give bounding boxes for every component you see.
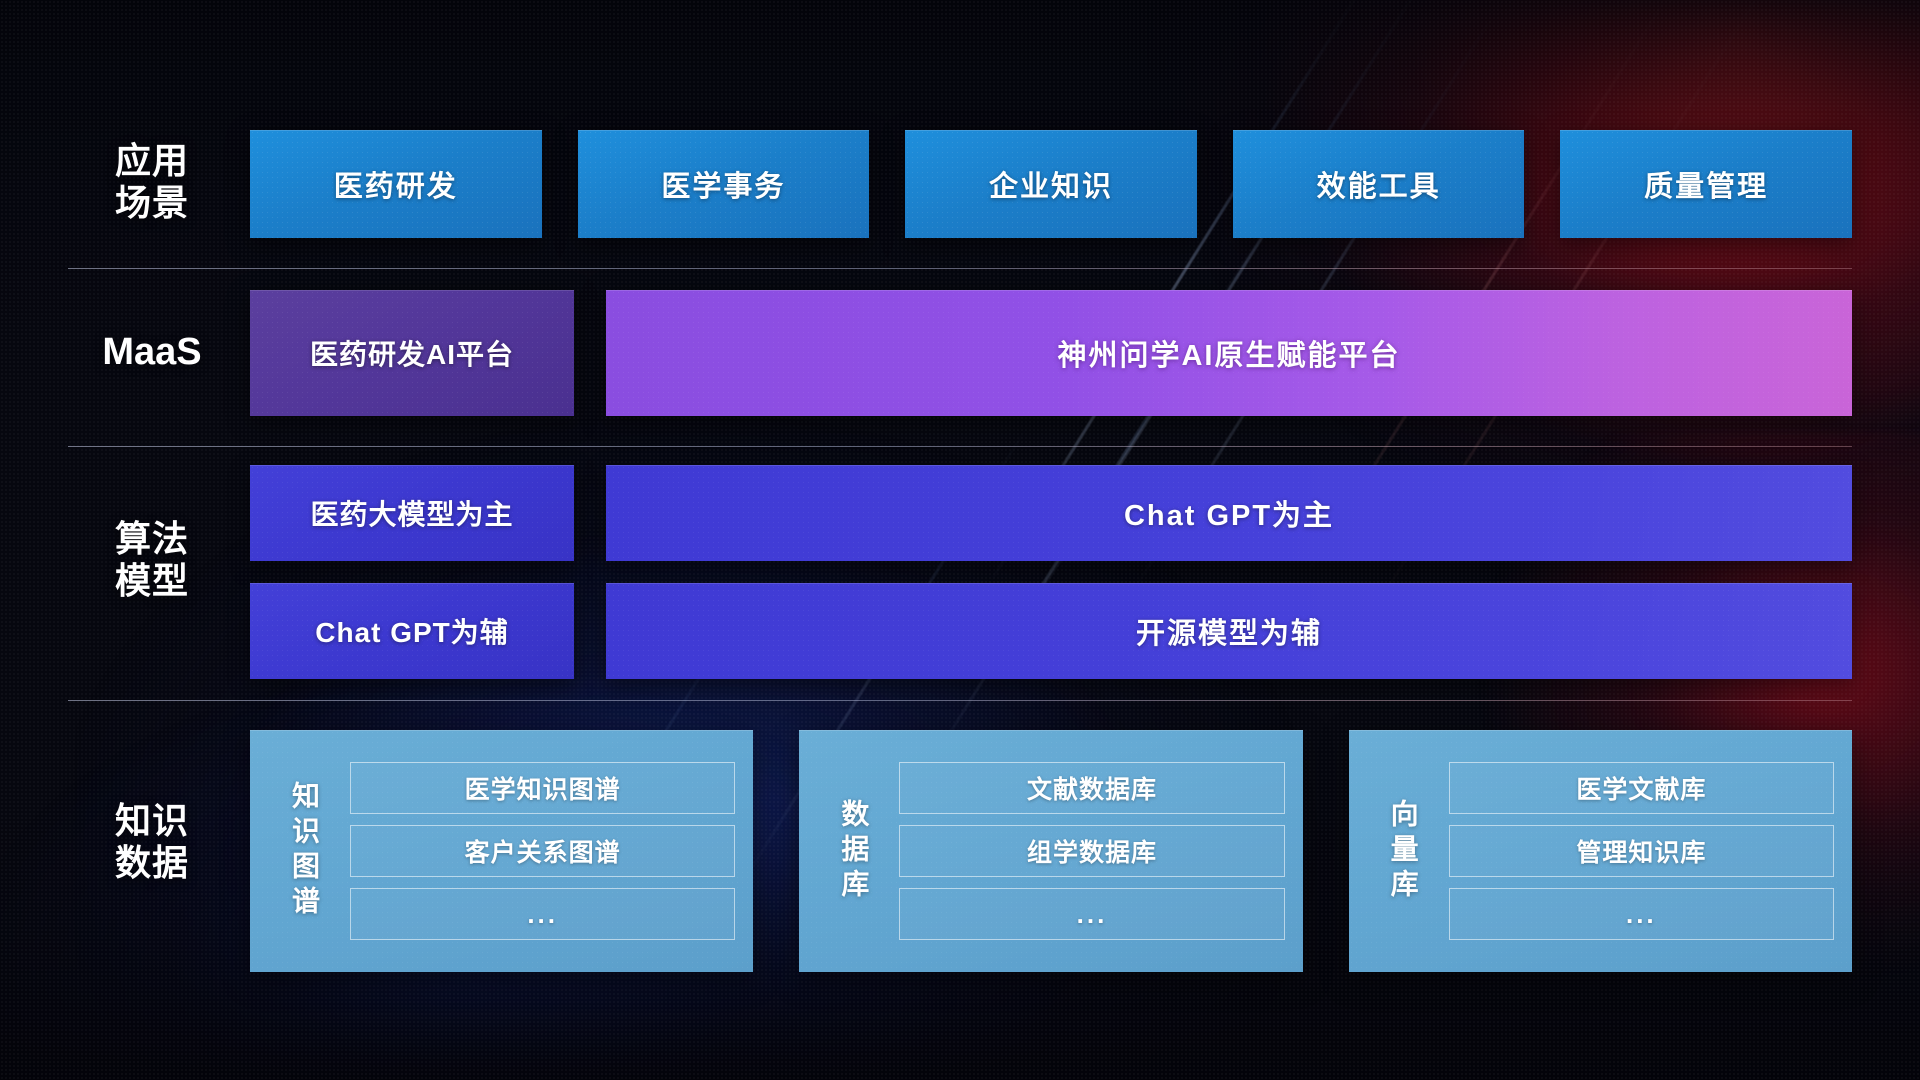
- row-label-line: 场景: [86, 182, 218, 224]
- knowledge-item-medical-graph[interactable]: 医学知识图谱: [350, 762, 735, 814]
- algorithm-secondary-line: Chat GPT为辅 开源模型为辅: [250, 583, 1852, 679]
- knowledge-card-vector-store[interactable]: 向量库 医学文献库 管理知识库 ...: [1349, 730, 1852, 972]
- algorithm-box-opensource-secondary[interactable]: 开源模型为辅: [606, 583, 1852, 679]
- row-separator-1: [68, 268, 1852, 269]
- scenario-box-quality-management[interactable]: 质量管理: [1560, 130, 1852, 238]
- row-label-algorithm-model: 算法 模型: [86, 518, 218, 602]
- knowledge-card-title: 向量库: [1357, 746, 1449, 956]
- maas-box-shenzhou-wenxue-platform[interactable]: 神州问学AI原生赋能平台: [606, 290, 1852, 416]
- knowledge-card-title: 知识图谱: [258, 746, 350, 956]
- row-label-application-scenario: 应用 场景: [86, 140, 218, 224]
- maas-row: 医药研发AI平台 神州问学AI原生赋能平台: [250, 290, 1852, 416]
- row-separator-2: [68, 446, 1852, 447]
- knowledge-card-database[interactable]: 数据库 文献数据库 组学数据库 ...: [799, 730, 1302, 972]
- scenario-box-enterprise-knowledge[interactable]: 企业知识: [905, 130, 1197, 238]
- algorithm-box-chatgpt-secondary[interactable]: Chat GPT为辅: [250, 583, 574, 679]
- algorithm-model-row: 医药大模型为主 Chat GPT为主 Chat GPT为辅 开源模型为辅: [250, 465, 1852, 679]
- algorithm-primary-line: 医药大模型为主 Chat GPT为主: [250, 465, 1852, 561]
- scenario-box-efficiency-tools[interactable]: 效能工具: [1233, 130, 1525, 238]
- knowledge-data-row: 知识图谱 医学知识图谱 客户关系图谱 ... 数据库 文献数据库 组学数据库 .…: [250, 730, 1852, 972]
- row-separator-3: [68, 700, 1852, 701]
- knowledge-card-items: 医学文献库 管理知识库 ...: [1449, 746, 1834, 956]
- algorithm-box-pharma-llm-primary[interactable]: 医药大模型为主: [250, 465, 574, 561]
- row-label-knowledge-data: 知识 数据: [86, 800, 218, 884]
- scenario-box-medical-affairs[interactable]: 医学事务: [578, 130, 870, 238]
- knowledge-item-more[interactable]: ...: [1449, 888, 1834, 940]
- knowledge-card-title: 数据库: [807, 746, 899, 956]
- application-scenario-row: 医药研发 医学事务 企业知识 效能工具 质量管理: [250, 130, 1852, 238]
- row-label-line: 数据: [86, 842, 218, 884]
- knowledge-item-more[interactable]: ...: [899, 888, 1284, 940]
- knowledge-item-literature-db[interactable]: 文献数据库: [899, 762, 1284, 814]
- knowledge-item-customer-graph[interactable]: 客户关系图谱: [350, 825, 735, 877]
- row-label-line: 应用: [86, 140, 218, 182]
- row-label-line: 知识: [86, 800, 218, 842]
- row-label-line: 模型: [86, 560, 218, 602]
- knowledge-card-items: 医学知识图谱 客户关系图谱 ...: [350, 746, 735, 956]
- architecture-diagram: 应用 场景 医药研发 医学事务 企业知识 效能工具 质量管理 MaaS 医药研发…: [0, 0, 1920, 1080]
- knowledge-item-omics-db[interactable]: 组学数据库: [899, 825, 1284, 877]
- maas-box-drug-rd-ai-platform[interactable]: 医药研发AI平台: [250, 290, 574, 416]
- scenario-box-drug-rd[interactable]: 医药研发: [250, 130, 542, 238]
- knowledge-item-medical-literature[interactable]: 医学文献库: [1449, 762, 1834, 814]
- knowledge-item-more[interactable]: ...: [350, 888, 735, 940]
- knowledge-item-management-knowledge[interactable]: 管理知识库: [1449, 825, 1834, 877]
- algorithm-box-chatgpt-primary[interactable]: Chat GPT为主: [606, 465, 1852, 561]
- knowledge-card-knowledge-graph[interactable]: 知识图谱 医学知识图谱 客户关系图谱 ...: [250, 730, 753, 972]
- knowledge-card-items: 文献数据库 组学数据库 ...: [899, 746, 1284, 956]
- row-label-maas: MaaS: [86, 330, 218, 374]
- row-label-line: 算法: [86, 518, 218, 560]
